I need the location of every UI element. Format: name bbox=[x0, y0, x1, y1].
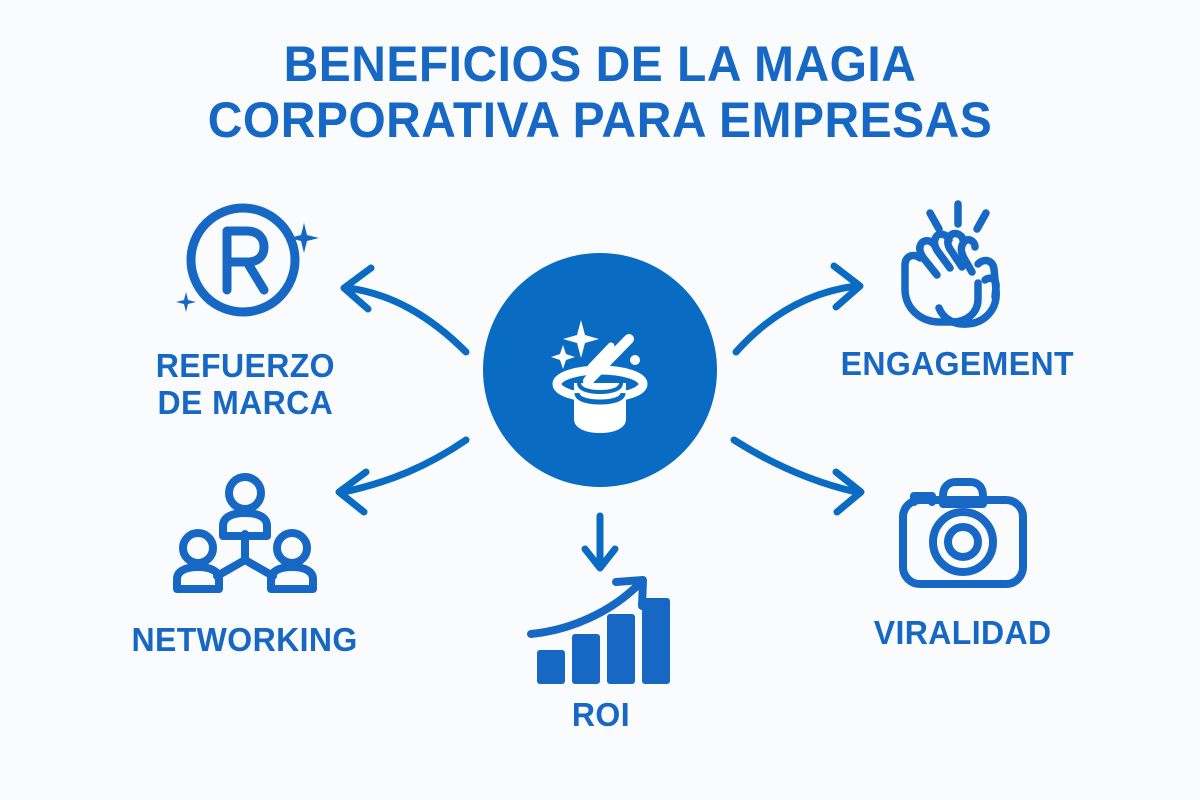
arrow-to-roi bbox=[585, 516, 615, 568]
benefit-label-viralidad: VIRALIDAD bbox=[874, 615, 1052, 652]
benefit-node-networking: NETWORKING bbox=[120, 472, 370, 659]
growth-bar-chart-icon bbox=[521, 572, 681, 687]
benefit-label-refuerzo-de-marca: REFUERZO DE MARCA bbox=[155, 348, 334, 422]
benefit-label-networking: NETWORKING bbox=[132, 622, 358, 659]
benefit-node-roi: ROI bbox=[478, 572, 723, 734]
title-line-2: CORPORATIVA PARA EMPRESAS bbox=[24, 92, 1176, 148]
benefit-label-engagement: ENGAGEMENT bbox=[840, 346, 1073, 383]
camera-icon bbox=[888, 470, 1038, 605]
benefit-node-viralidad: VIRALIDAD bbox=[840, 470, 1085, 652]
center-hub bbox=[483, 253, 717, 487]
clapping-hands-icon bbox=[875, 196, 1040, 336]
magic-hat-wand-icon bbox=[525, 295, 675, 445]
benefit-node-engagement: ENGAGEMENT bbox=[832, 196, 1082, 383]
benefit-label-roi: ROI bbox=[571, 697, 629, 734]
benefit-node-refuerzo-de-marca: REFUERZO DE MARCA bbox=[120, 198, 370, 422]
people-network-icon bbox=[155, 472, 335, 612]
infographic-canvas: BENEFICIOS DE LA MAGIA CORPORATIVA PARA … bbox=[0, 0, 1200, 800]
title-line-1: BENEFICIOS DE LA MAGIA bbox=[24, 36, 1176, 92]
page-title: BENEFICIOS DE LA MAGIA CORPORATIVA PARA … bbox=[0, 36, 1200, 148]
registered-trademark-icon bbox=[165, 198, 325, 338]
